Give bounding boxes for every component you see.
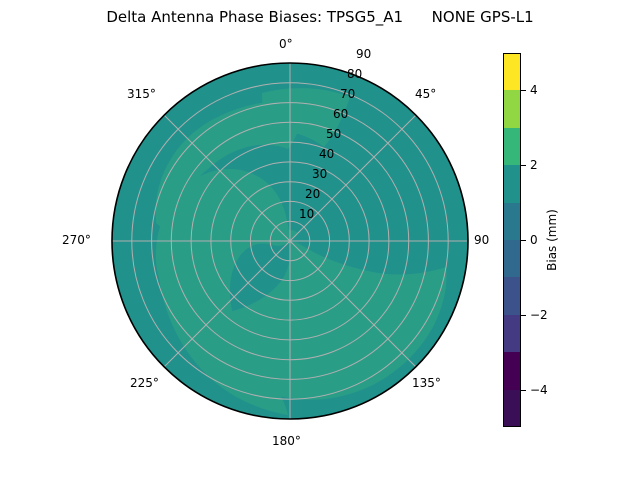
- colorbar-band-0: [503, 53, 521, 91]
- angular-tick-0: 0°: [279, 37, 293, 51]
- colorbar-tick-label-4: −4: [530, 383, 548, 397]
- figure-title: Delta Antenna Phase Biases: TPSG5_A1 NON…: [0, 8, 640, 26]
- colorbar-tick-mark-2: [521, 240, 526, 241]
- radial-tick-40: 40: [319, 147, 334, 161]
- angular-tick-45: 45°: [415, 87, 436, 101]
- radial-tick-60: 60: [333, 107, 348, 121]
- colorbar-bands: [503, 53, 521, 427]
- colorbar-tick-label-3: −2: [530, 308, 548, 322]
- figure-canvas: Delta Antenna Phase Biases: TPSG5_A1 NON…: [0, 0, 640, 480]
- angular-tick-315: 315°: [127, 87, 156, 101]
- angular-tick-270: 270°: [62, 233, 91, 247]
- radial-tick-90: 90: [356, 47, 371, 61]
- colorbar-tick-label-0: 4: [530, 83, 538, 97]
- colorbar-tick-mark-1: [521, 165, 526, 166]
- colorbar-tick-label-1: 2: [530, 158, 538, 172]
- radial-tick-80: 80: [347, 67, 362, 81]
- colorbar-tick-mark-3: [521, 315, 526, 316]
- colorbar-band-3: [503, 165, 521, 203]
- colorbar-band-8: [503, 352, 521, 390]
- angular-tick-180: 180°: [272, 434, 301, 448]
- polar-axes: 0° 45° 90 135° 180° 225° 270° 315° 10 20…: [112, 63, 468, 419]
- colorbar-band-4: [503, 203, 521, 241]
- colorbar-tick-mark-0: [521, 90, 526, 91]
- colorbar-band-7: [503, 315, 521, 353]
- radial-tick-50: 50: [326, 127, 341, 141]
- radial-tick-70: 70: [340, 87, 355, 101]
- colorbar-tick-mark-4: [521, 390, 526, 391]
- radial-tick-10: 10: [299, 207, 314, 221]
- colorbar-band-5: [503, 240, 521, 278]
- angular-tick-225: 225°: [130, 376, 159, 390]
- radial-tick-30: 30: [312, 167, 327, 181]
- colorbar[interactable]: 420−2−4: [503, 53, 521, 427]
- angular-tick-90: 90: [474, 233, 489, 247]
- colorbar-band-2: [503, 128, 521, 166]
- colorbar-band-1: [503, 90, 521, 128]
- colorbar-band-9: [503, 390, 521, 428]
- radial-tick-20: 20: [305, 187, 320, 201]
- colorbar-label: Bias (mm): [545, 209, 559, 271]
- polar-grid-spokes: [112, 63, 468, 419]
- polar-plot-svg: [112, 63, 468, 419]
- angular-tick-135: 135°: [412, 376, 441, 390]
- colorbar-tick-label-2: 0: [530, 233, 538, 247]
- colorbar-band-6: [503, 277, 521, 315]
